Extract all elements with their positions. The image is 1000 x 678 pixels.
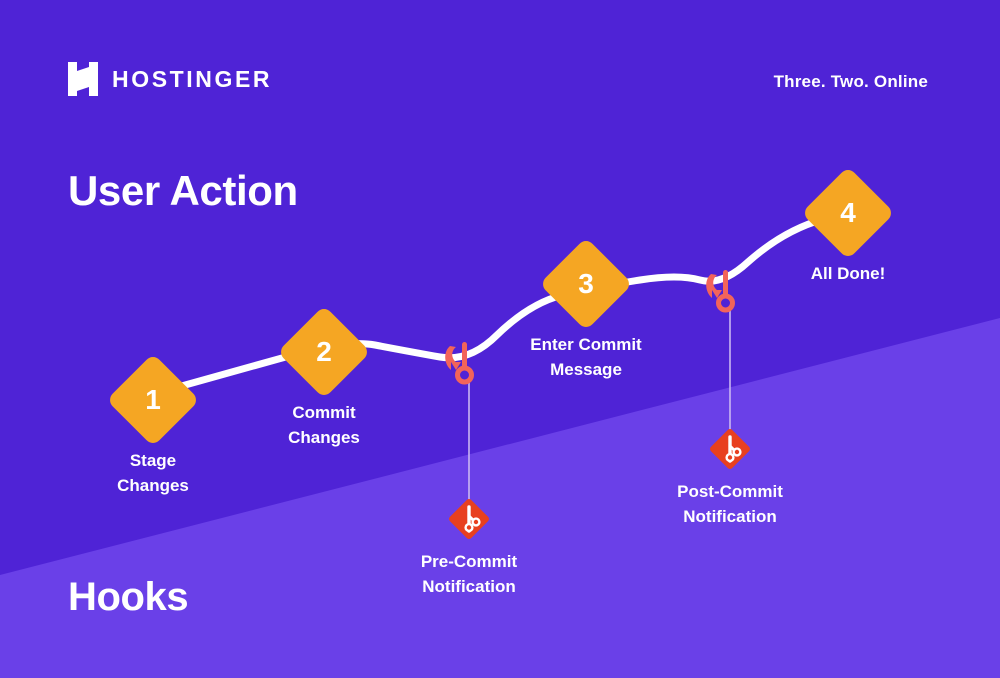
step-label: Commit Changes bbox=[204, 400, 444, 450]
hook-label-line1: Post-Commit bbox=[590, 479, 870, 504]
hooks-title: Hooks bbox=[68, 575, 188, 620]
git-logo-icon bbox=[708, 427, 752, 471]
fishing-hook-icon bbox=[703, 268, 745, 318]
brand-tagline: Three. Two. Online bbox=[774, 72, 928, 92]
step-label: Enter Commit Message bbox=[466, 332, 706, 382]
step-label-line2: Changes bbox=[204, 425, 444, 450]
step-label-line1: Enter Commit bbox=[466, 332, 706, 357]
hook-label: Post-Commit Notification bbox=[590, 479, 870, 529]
git-logo-icon bbox=[447, 497, 491, 541]
brand-logo[interactable]: HOSTINGER bbox=[68, 62, 272, 96]
step-number: 4 bbox=[815, 180, 881, 246]
hook-label-line1: Pre-Commit bbox=[329, 549, 609, 574]
hook-label-line2: Notification bbox=[329, 574, 609, 599]
hook-label-line2: Notification bbox=[590, 504, 870, 529]
hook-label: Pre-Commit Notification bbox=[329, 549, 609, 599]
user-action-title: User Action bbox=[68, 167, 298, 215]
step-label-line1: All Done! bbox=[728, 261, 968, 286]
hostinger-logo-icon bbox=[68, 62, 98, 96]
infographic-canvas: HOSTINGER Three. Two. Online User Action… bbox=[0, 0, 1000, 678]
brand-name: HOSTINGER bbox=[112, 66, 272, 93]
fishing-hook-icon bbox=[442, 340, 484, 390]
step-number: 3 bbox=[553, 251, 619, 317]
step-label: All Done! bbox=[728, 261, 968, 286]
step-label: Stage Changes bbox=[33, 448, 273, 498]
step-number: 2 bbox=[291, 319, 357, 385]
step-number: 1 bbox=[120, 367, 186, 433]
step-label-line2: Message bbox=[466, 357, 706, 382]
step-label-line1: Commit bbox=[204, 400, 444, 425]
step-label-line1: Stage bbox=[33, 448, 273, 473]
step-label-line2: Changes bbox=[33, 473, 273, 498]
